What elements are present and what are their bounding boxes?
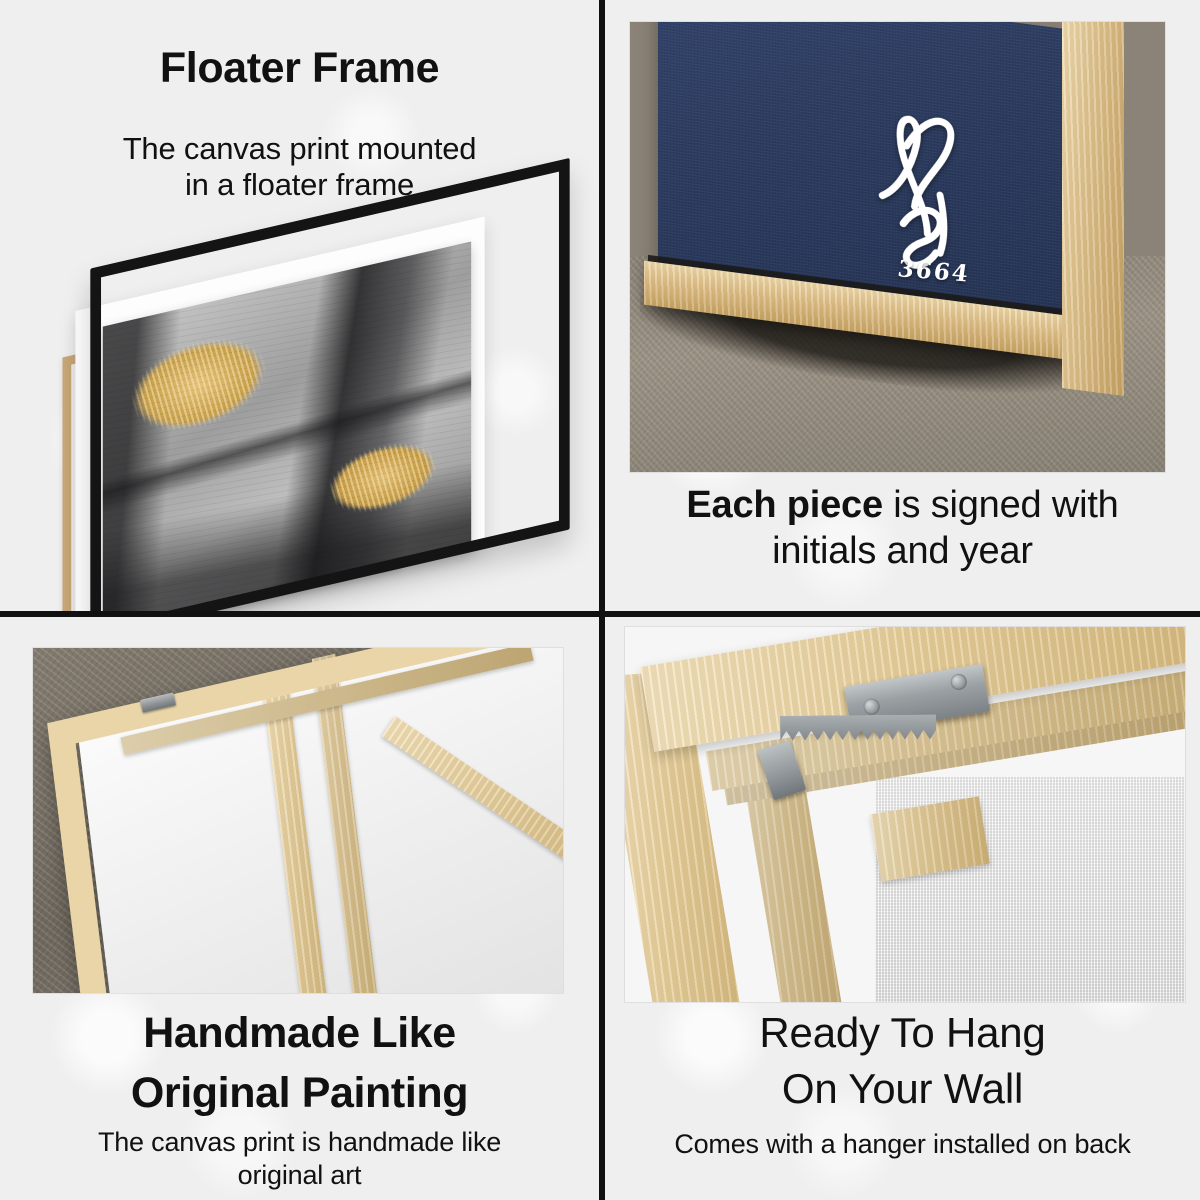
signed-piece-headline-bold: Each piece xyxy=(686,484,883,526)
ready-to-hang-title-line1: Ready To Hang xyxy=(605,1009,1200,1056)
signed-canvas-photo: 3664 xyxy=(630,22,1165,472)
hanger-hardware-photo xyxy=(625,627,1185,1002)
panel-ready-to-hang: Ready To Hang On Your Wall Comes with a … xyxy=(605,617,1200,1200)
floater-frame-subtitle-line2: in a floater frame xyxy=(0,168,599,203)
handmade-title-line1: Handmade Like xyxy=(0,1009,599,1057)
signed-piece-headline-line2: initials and year xyxy=(605,530,1200,573)
handmade-subtitle-line2: original art xyxy=(0,1160,599,1190)
ready-to-hang-subtitle: Comes with a hanger installed on back xyxy=(605,1129,1200,1159)
ready-to-hang-title-line2: On Your Wall xyxy=(605,1065,1200,1112)
horizontal-divider xyxy=(0,611,1200,617)
floater-frame-subtitle-line1: The canvas print mounted xyxy=(0,132,599,167)
signed-piece-headline: Each piece is signed with xyxy=(605,484,1200,527)
stretcher-bar-photo xyxy=(33,648,563,993)
wood-grain-texture xyxy=(1062,22,1124,396)
wood-frame-right-rail xyxy=(1062,22,1124,396)
signed-piece-headline-rest: is signed with xyxy=(883,484,1119,526)
panel-floater-frame: Floater Frame The canvas print mounted i… xyxy=(0,0,599,611)
black-floater-frame xyxy=(90,158,569,611)
panel-signed-piece: 3664 Each piece is signed with initials … xyxy=(605,0,1200,611)
handmade-subtitle-line1: The canvas print is handmade like xyxy=(0,1127,599,1157)
floater-frame-title: Floater Frame xyxy=(0,44,599,92)
panel-handmade: Handmade Like Original Painting The canv… xyxy=(0,617,599,1200)
handmade-title-line2: Original Painting xyxy=(0,1069,599,1117)
product-feature-infographic: Floater Frame The canvas print mounted i… xyxy=(0,0,1200,1200)
signature-year: 3664 xyxy=(897,255,970,288)
vertical-divider xyxy=(599,0,605,1200)
